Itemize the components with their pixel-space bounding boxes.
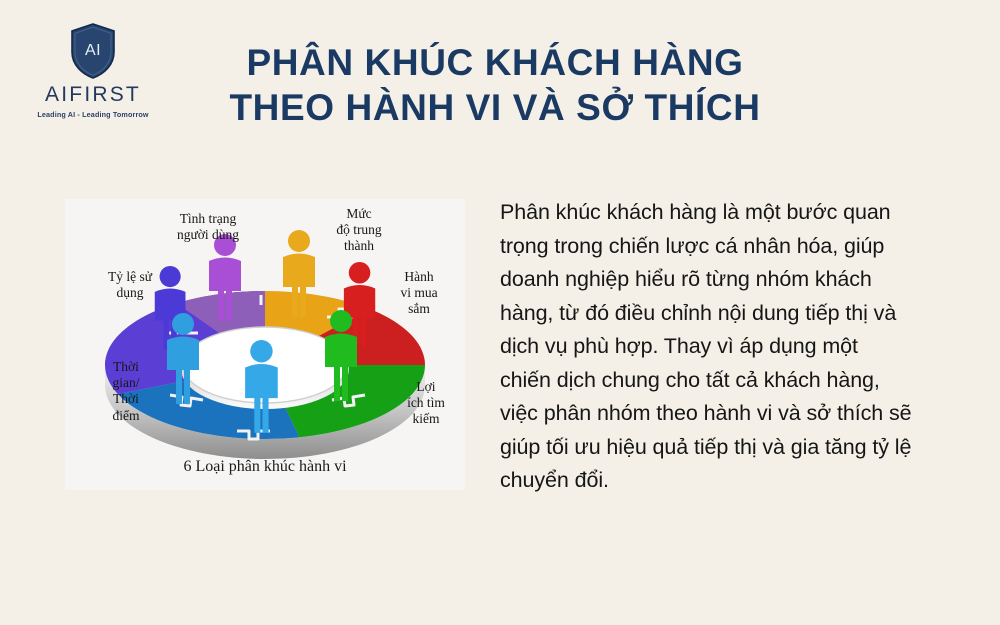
diagram-label-usage-rate: Tỷ lệ sử dụng	[87, 269, 173, 301]
shield-ai-icon: AI	[68, 22, 118, 80]
page-title-line-2: THEO HÀNH VI VÀ SỞ THÍCH	[175, 85, 815, 130]
diagram-label-benefit-sought: Lợi ích tìm kiếm	[385, 379, 465, 428]
diagram-label-user-status: Tình trạng người dùng	[153, 211, 263, 243]
diagram-caption: 6 Loại phân khúc hành vi	[65, 458, 465, 476]
brand-tagline: Leading AI - Leading Tomorrow	[26, 111, 160, 118]
diagram-label-purchase-behavior: Hành vi mua sắm	[378, 269, 460, 318]
page-title: PHÂN KHÚC KHÁCH HÀNG THEO HÀNH VI VÀ SỞ …	[175, 40, 815, 130]
page-title-line-1: PHÂN KHÚC KHÁCH HÀNG	[175, 40, 815, 85]
segmentation-diagram-image: Tình trạng người dùng Mức độ trung thành…	[65, 199, 465, 490]
diagram-label-timing: Thời gian/ Thời điểm	[85, 359, 167, 424]
diagram-stage: Tình trạng người dùng Mức độ trung thành…	[65, 199, 465, 490]
brand-logo: AI AIFIRST Leading AI - Leading Tomorrow	[26, 22, 160, 118]
shield-monogram: AI	[85, 42, 101, 59]
diagram-label-loyalty-level: Mức độ trung thành	[308, 206, 410, 255]
brand-name: AIFIRST	[26, 84, 160, 105]
body-paragraph: Phân khúc khách hàng là một bước quan tr…	[500, 196, 912, 498]
